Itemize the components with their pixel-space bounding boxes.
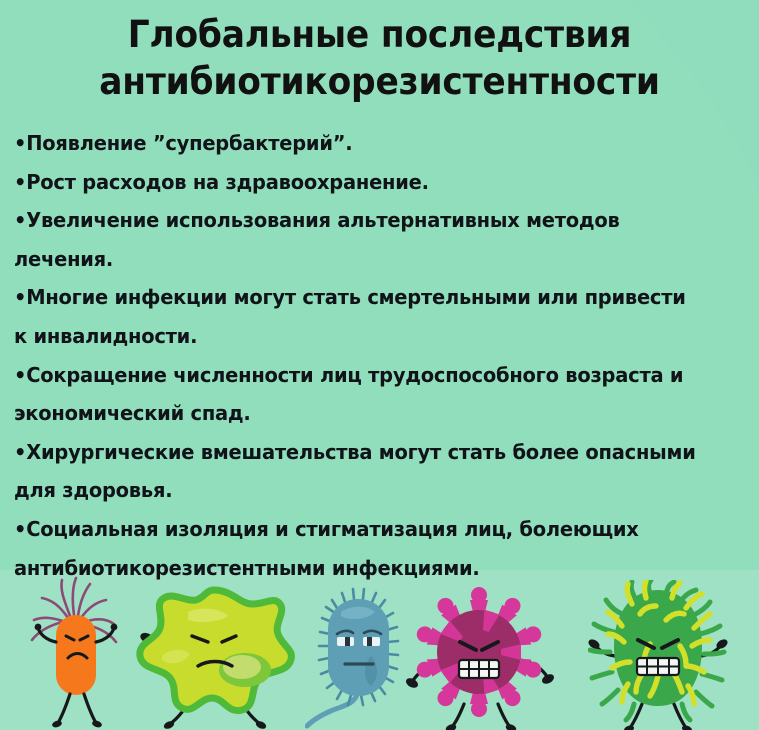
bullet-marker: • (14, 131, 26, 155)
list-item-text: Сокращение численности лиц трудоспособно… (14, 363, 683, 426)
list-item-text: Хирургические вмешательства могут стать … (14, 440, 696, 503)
bullet-marker: • (14, 440, 26, 464)
bullet-marker: • (14, 517, 26, 541)
list-item-text: Увеличение использования альтернативных … (14, 208, 620, 271)
bullet-marker: • (14, 208, 26, 232)
green-hairy-bacterium-icon (588, 580, 728, 730)
poster-content: Глобальные последствия антибиотикорезист… (0, 0, 759, 587)
list-item: •Сокращение численности лиц трудоспособн… (14, 356, 705, 433)
blue-bacillus-icon (305, 580, 411, 730)
list-item: •Хирургические вмешательства могут стать… (14, 433, 705, 510)
page-title-line-1: Глобальные последствия (64, 11, 695, 58)
magenta-virus-icon (404, 572, 554, 730)
green-amoeba-icon (128, 578, 300, 730)
bullet-marker: • (14, 363, 26, 387)
list-item-text: Рост расходов на здравоохранение. (26, 170, 429, 194)
page-title-line-2: антибиотикорезистентности (64, 58, 695, 105)
bullet-marker: • (14, 170, 26, 194)
consequences-list: •Появление ”супербактерий”. •Рост расход… (0, 124, 759, 587)
microbe-illustration-row (0, 565, 759, 730)
list-item: •Появление ”супербактерий”. (14, 124, 705, 163)
poster-root: Глобальные последствия антибиотикорезист… (0, 0, 759, 730)
list-item: •Увеличение использования альтернативных… (14, 201, 705, 278)
list-item-text: Многие инфекции могут стать смертельными… (14, 285, 686, 348)
orange-rod-bacterium-icon (18, 570, 133, 730)
list-item: •Рост расходов на здравоохранение. (14, 163, 705, 202)
list-item: •Многие инфекции могут стать смертельным… (14, 278, 705, 355)
page-title: Глобальные последствия антибиотикорезист… (27, 0, 733, 105)
list-item-text: Появление ”супербактерий”. (26, 131, 352, 155)
bullet-marker: • (14, 285, 26, 309)
